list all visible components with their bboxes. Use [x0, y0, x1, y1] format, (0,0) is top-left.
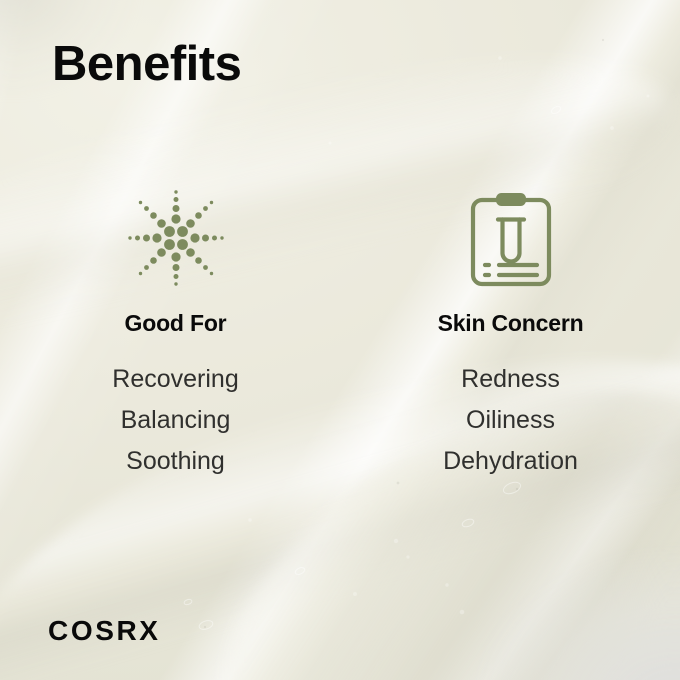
column-heading: Skin Concern — [438, 312, 584, 335]
dotted-starburst-icon — [124, 186, 228, 290]
benefit-column-good-for: Good For Recovering Balancing Soothing — [6, 186, 345, 498]
list-item: Dehydration — [443, 441, 578, 482]
clipboard-test-tube-icon — [459, 186, 563, 290]
benefit-list-skin-concern: Redness Oiliness Dehydration — [443, 359, 578, 482]
brand-logo: COSRX — [48, 617, 161, 645]
list-item: Oiliness — [443, 400, 578, 441]
benefit-list-good-for: Recovering Balancing Soothing — [112, 359, 238, 482]
benefit-column-skin-concern: Skin Concern Redness Oiliness Dehydratio… — [341, 186, 680, 498]
list-item: Redness — [443, 359, 578, 400]
benefit-columns: Good For Recovering Balancing Soothing — [0, 186, 680, 498]
list-item: Soothing — [112, 441, 238, 482]
benefits-card: Benefits — [0, 0, 680, 680]
list-item: Balancing — [112, 400, 238, 441]
page-title: Benefits — [52, 40, 241, 89]
list-item: Recovering — [112, 359, 238, 400]
column-heading: Good For — [125, 312, 227, 335]
